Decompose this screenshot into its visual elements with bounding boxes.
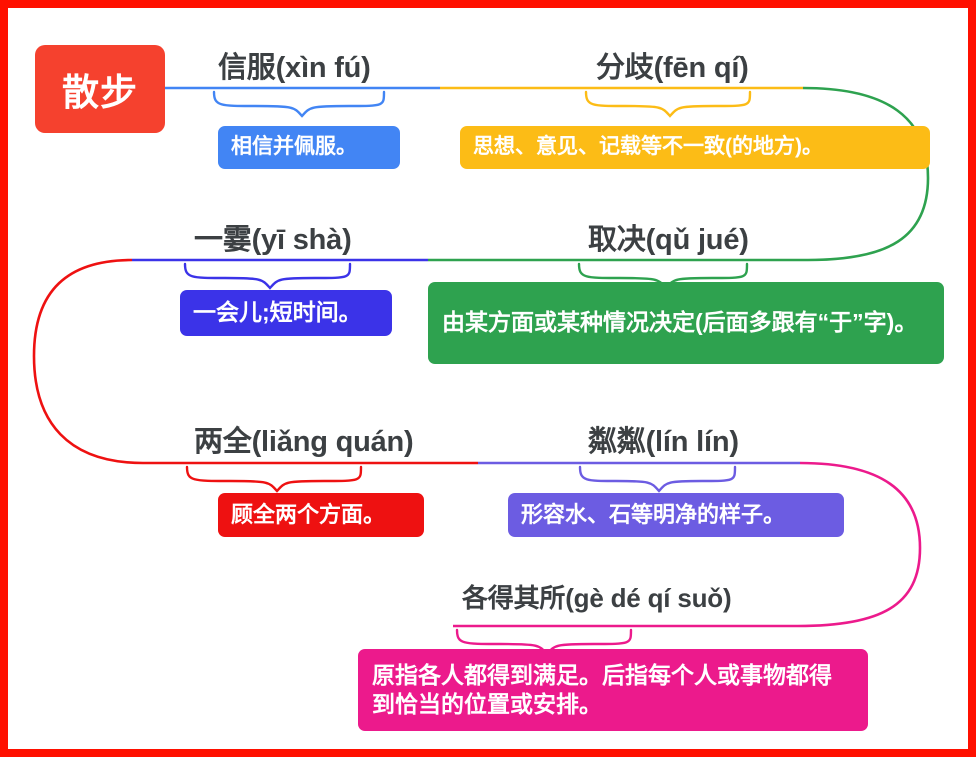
definition-box-gedeqisuo[interactable]: 原指各人都得到满足。后指每个人或事物都得到恰当的位置或安排。 [358, 649, 868, 731]
connector-line-qujue-wrap [803, 88, 928, 260]
branch-title-gedeqisuo[interactable]: 各得其所(gè dé qí suǒ) [462, 578, 731, 615]
branch-title-yisha[interactable]: 一霎(yī shà) [194, 216, 352, 258]
branch-title-liangquan[interactable]: 两全(liǎng quán) [194, 418, 414, 460]
definition-box-qujue[interactable]: 由某方面或某种情况决定(后面多跟有“于”字)。 [428, 282, 944, 364]
branch-title-xinfu[interactable]: 信服(xìn fú) [218, 44, 371, 86]
connector-line-liangquan-wrap [34, 260, 143, 463]
branch-title-qujue[interactable]: 取决(qǔ jué) [588, 216, 749, 258]
definition-box-liangquan[interactable]: 顾全两个方面。 [218, 493, 424, 537]
definition-box-xinfu[interactable]: 相信并佩服。 [218, 126, 400, 169]
definition-text-xinfu: 相信并佩服。 [231, 134, 357, 161]
root-node-label: 散步 [62, 62, 138, 116]
mindmap-screenshot: 散步 信服(xìn fú) 相信并佩服。 分歧(fēn qí) 思想、意见、记载… [0, 0, 976, 757]
definition-text-linlin: 形容水、石等明净的样子。 [521, 501, 785, 529]
brace-liangquan [187, 467, 361, 491]
brace-fenqi [586, 92, 750, 116]
root-node-sanbu[interactable]: 散步 [35, 45, 165, 133]
definition-text-yisha: 一会儿;短时间。 [193, 298, 362, 327]
definition-text-liangquan: 顾全两个方面。 [231, 501, 385, 529]
mindmap-canvas: 散步 信服(xìn fú) 相信并佩服。 分歧(fēn qí) 思想、意见、记载… [8, 8, 968, 749]
branch-title-linlin[interactable]: 粼粼(lín lín) [588, 418, 739, 460]
definition-box-linlin[interactable]: 形容水、石等明净的样子。 [508, 493, 844, 537]
definition-box-yisha[interactable]: 一会儿;短时间。 [180, 290, 392, 336]
definition-box-fenqi[interactable]: 思想、意见、记载等不一致(的地方)。 [460, 126, 930, 169]
brace-xinfu [214, 92, 384, 116]
definition-text-fenqi: 思想、意见、记载等不一致(的地方)。 [473, 134, 823, 161]
branch-title-fenqi[interactable]: 分歧(fēn qí) [596, 44, 749, 86]
definition-text-gedeqisuo: 原指各人都得到满足。后指每个人或事物都得到恰当的位置或安排。 [372, 661, 854, 720]
definition-text-qujue: 由某方面或某种情况决定(后面多跟有“于”字)。 [442, 308, 917, 337]
connector-line-gedeqisuo-wrap [798, 463, 920, 626]
brace-linlin [580, 467, 735, 491]
brace-yisha [185, 264, 350, 288]
